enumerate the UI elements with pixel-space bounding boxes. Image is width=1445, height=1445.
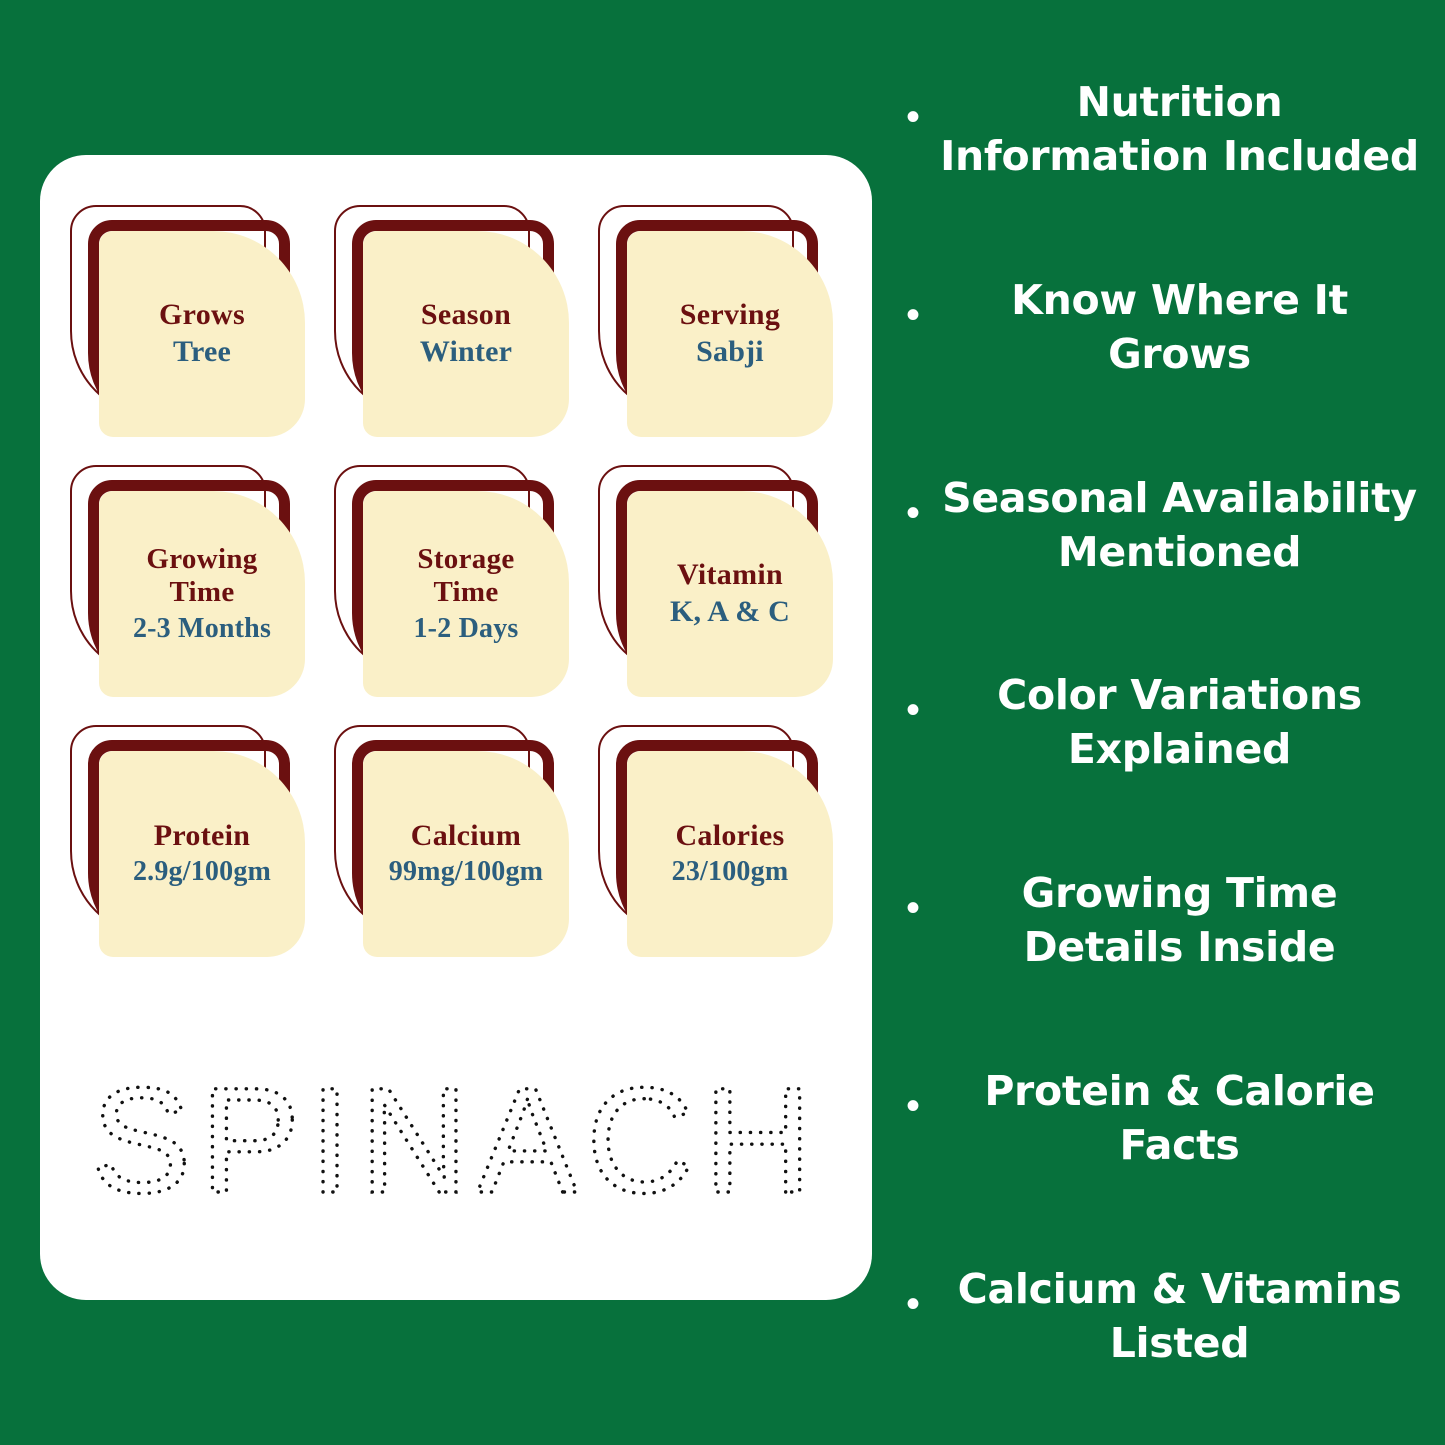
benefit-item: • Calcium & Vitamins Listed [890, 1262, 1445, 1370]
benefit-item: • Color Variations Explained [890, 668, 1445, 776]
bullet-icon: • [890, 471, 936, 533]
benefit-item: • Nutrition Information Included [890, 75, 1445, 183]
tile-label: Calories [675, 819, 784, 854]
bullet-icon: • [890, 1064, 936, 1126]
bullet-icon: • [890, 866, 936, 928]
tile-fill: Protein 2.9g/100gm [99, 751, 305, 957]
tile-label: Protein [154, 819, 251, 854]
benefit-text: Nutrition Information Included [936, 75, 1437, 183]
svg-text:SPINACH: SPINACH [91, 1060, 821, 1224]
tile-fill: Calcium 99mg/100gm [363, 751, 569, 957]
tile-label: GrowingTime [146, 543, 257, 610]
tile-value: 2.9g/100gm [133, 855, 271, 889]
bullet-icon: • [890, 1262, 936, 1324]
tile-value: Tree [173, 334, 231, 370]
tile-label: Calcium [411, 819, 521, 854]
fact-tile-season: Season Winter [332, 203, 594, 463]
fact-tile-grid: Grows Tree Season Winter Serving Sabji [68, 203, 858, 983]
fact-tile-storage-time: StorageTime 1-2 Days [332, 463, 594, 723]
fact-tile-grows: Grows Tree [68, 203, 330, 463]
benefit-item: • Growing Time Details Inside [890, 866, 1445, 974]
tile-fill: Vitamin K, A & C [627, 491, 833, 697]
fact-tile-serving: Serving Sabji [596, 203, 858, 463]
fact-tile-protein: Protein 2.9g/100gm [68, 723, 330, 983]
fact-tile-calcium: Calcium 99mg/100gm [332, 723, 594, 983]
tile-value: 99mg/100gm [389, 855, 543, 889]
benefit-item: • Protein & Calorie Facts [890, 1064, 1445, 1172]
tile-value: K, A & C [670, 594, 790, 630]
benefits-list: • Nutrition Information Included • Know … [890, 0, 1445, 1445]
benefit-text: Know Where It Grows [936, 273, 1437, 381]
tile-value: 23/100gm [672, 855, 789, 889]
tile-fill: Calories 23/100gm [627, 751, 833, 957]
benefit-item: • Know Where It Grows [890, 273, 1445, 381]
tile-value: 1-2 Days [413, 612, 518, 646]
fact-tile-calories: Calories 23/100gm [596, 723, 858, 983]
fact-tile-vitamin: Vitamin K, A & C [596, 463, 858, 723]
tile-label: Season [421, 298, 511, 333]
tile-fill: Serving Sabji [627, 231, 833, 437]
tile-value: Sabji [696, 334, 764, 370]
spinach-info-card: Grows Tree Season Winter Serving Sabji [40, 155, 872, 1300]
tile-label: Vitamin [677, 558, 783, 593]
tile-fill: Grows Tree [99, 231, 305, 437]
benefit-text: Growing Time Details Inside [936, 866, 1437, 974]
spinach-wordmark-dotted: SPINACH [40, 1055, 872, 1235]
tile-label: Serving [680, 298, 780, 333]
fact-tile-growing-time: GrowingTime 2-3 Months [68, 463, 330, 723]
benefit-item: • Seasonal Availability Mentioned [890, 471, 1445, 579]
bullet-icon: • [890, 75, 936, 137]
tile-label: Grows [159, 298, 245, 333]
tile-fill: Season Winter [363, 231, 569, 437]
benefit-text: Seasonal Availability Mentioned [936, 471, 1437, 579]
benefit-text: Protein & Calorie Facts [936, 1064, 1437, 1172]
benefit-text: Calcium & Vitamins Listed [936, 1262, 1437, 1370]
tile-fill: GrowingTime 2-3 Months [99, 491, 305, 697]
tile-value: 2-3 Months [133, 612, 271, 646]
tile-label: StorageTime [417, 543, 514, 610]
bullet-icon: • [890, 273, 936, 335]
tile-value: Winter [420, 334, 512, 370]
benefit-text: Color Variations Explained [936, 668, 1437, 776]
tile-fill: StorageTime 1-2 Days [363, 491, 569, 697]
bullet-icon: • [890, 668, 936, 730]
